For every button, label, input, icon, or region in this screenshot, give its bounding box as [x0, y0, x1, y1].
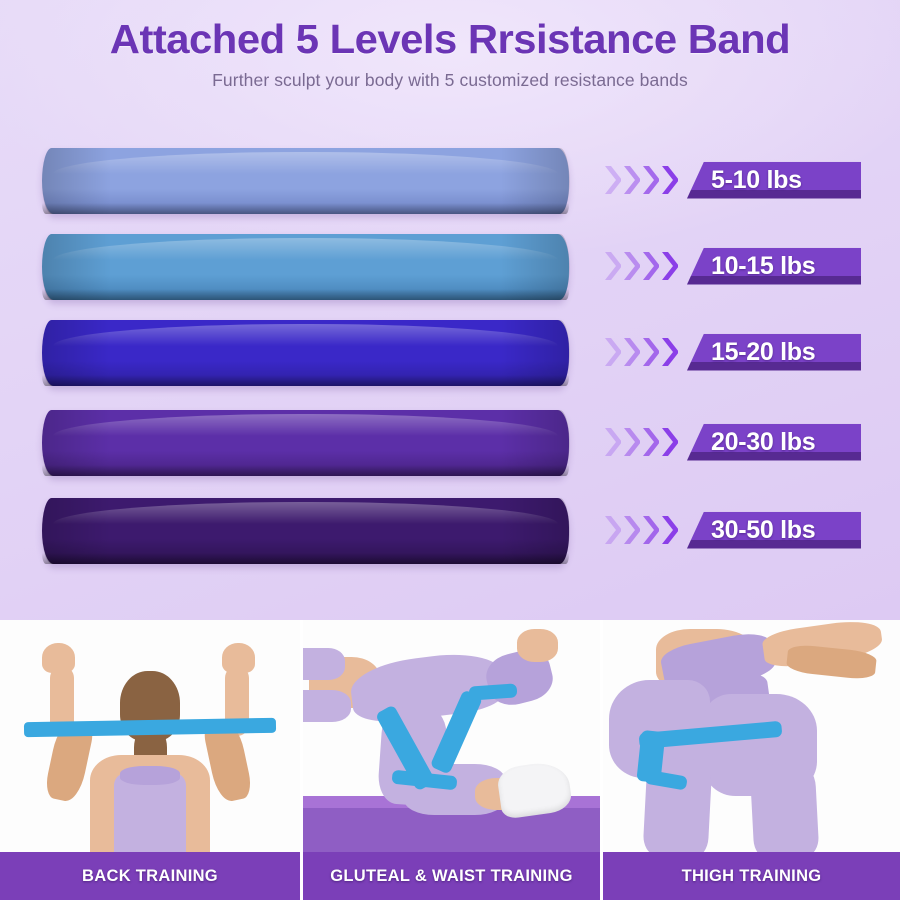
band-sheen: [53, 502, 559, 524]
resistance-band-level-1: [42, 148, 569, 214]
chevron-right-icon: [642, 165, 659, 195]
chevron-right-icon: [604, 337, 621, 367]
band-sheen: [53, 414, 559, 436]
band-fold: [42, 553, 569, 564]
caption-text: THIGH TRAINING: [682, 867, 822, 886]
weight-label: 15-20 lbs: [711, 338, 815, 367]
resistance-band-level-5: [42, 498, 569, 564]
band-end-right: [501, 234, 570, 300]
weight-label: 30-50 lbs: [711, 516, 815, 545]
weight-badge-level-1: 5-10 lbs: [604, 142, 861, 218]
band-fold: [42, 289, 569, 300]
chevron-group: [604, 515, 678, 545]
weight-plate: 20-30 lbs: [687, 424, 861, 461]
band-end-right: [501, 410, 570, 476]
chevron-right-icon: [661, 251, 678, 281]
chevron-right-icon: [642, 337, 659, 367]
header: Attached 5 Levels Rrsistance Band Furthe…: [0, 0, 900, 91]
weight-badge-level-3: 15-20 lbs: [604, 314, 861, 390]
weight-plate: 10-15 lbs: [687, 248, 861, 285]
weight-plate: 5-10 lbs: [687, 162, 861, 199]
chevron-right-icon: [623, 337, 640, 367]
weight-label: 5-10 lbs: [711, 166, 802, 195]
caption-bar: THIGH TRAINING: [603, 852, 900, 900]
band-sheen: [53, 324, 559, 346]
band-end-left: [42, 320, 111, 386]
band-end-left: [42, 410, 111, 476]
resistance-band-level-4: [42, 410, 569, 476]
chevron-right-icon: [642, 515, 659, 545]
chevron-right-icon: [661, 337, 678, 367]
caption-bar: BACK TRAINING: [0, 852, 300, 900]
infographic-panel: Attached 5 Levels Rrsistance Band Furthe…: [0, 0, 900, 620]
band-end-left: [42, 234, 111, 300]
resistance-band-level-2: [42, 234, 569, 300]
resistance-band-level-3: [42, 320, 569, 386]
weight-plate: 15-20 lbs: [687, 334, 861, 371]
band-end-left: [42, 148, 111, 214]
chevron-right-icon: [661, 515, 678, 545]
chevron-right-icon: [604, 515, 621, 545]
chevron-right-icon: [661, 427, 678, 457]
photo-cell-back-training: BACK TRAINING: [0, 620, 300, 900]
band-face: [42, 498, 569, 564]
band-sheen: [53, 238, 559, 260]
band-row: 20-30 lbs: [0, 404, 900, 480]
band-end-left: [42, 498, 111, 564]
weight-plate: 30-50 lbs: [687, 512, 861, 549]
band-sheen: [53, 152, 559, 174]
chevron-right-icon: [623, 427, 640, 457]
band-end-right: [501, 148, 570, 214]
band-row: 10-15 lbs: [0, 228, 900, 304]
photo-strip: BACK TRAINING: [0, 620, 900, 900]
photo-cell-thigh-training: THIGH TRAINING: [600, 620, 900, 900]
band-fold: [42, 375, 569, 386]
band-row: 15-20 lbs: [0, 314, 900, 390]
weight-badge-level-4: 20-30 lbs: [604, 404, 861, 480]
chevron-right-icon: [604, 165, 621, 195]
band-fold: [42, 203, 569, 214]
band-face: [42, 410, 569, 476]
photo-back-training: [0, 620, 300, 852]
caption-text: BACK TRAINING: [82, 867, 218, 886]
chevron-right-icon: [642, 251, 659, 281]
chevron-right-icon: [661, 165, 678, 195]
page-subtitle: Further sculpt your body with 5 customiz…: [0, 70, 900, 91]
chevron-group: [604, 427, 678, 457]
chevron-right-icon: [642, 427, 659, 457]
chevron-group: [604, 337, 678, 367]
caption-text: GLUTEAL & WAIST TRAINING: [330, 867, 572, 886]
caption-bar: GLUTEAL & WAIST TRAINING: [303, 852, 600, 900]
band-row: 5-10 lbs: [0, 142, 900, 218]
weight-label: 10-15 lbs: [711, 252, 815, 281]
band-face: [42, 320, 569, 386]
photo-cell-gluteal-waist-training: GLUTEAL & WAIST TRAINING: [300, 620, 600, 900]
chevron-right-icon: [623, 251, 640, 281]
photo-gluteal-waist-training: [303, 620, 600, 852]
chevron-right-icon: [604, 251, 621, 281]
band-row: 30-50 lbs: [0, 492, 900, 568]
chevron-right-icon: [604, 427, 621, 457]
weight-label: 20-30 lbs: [711, 428, 815, 457]
band-face: [42, 234, 569, 300]
chevron-group: [604, 251, 678, 281]
band-end-right: [501, 320, 570, 386]
chevron-group: [604, 165, 678, 195]
band-end-right: [501, 498, 570, 564]
chevron-right-icon: [623, 165, 640, 195]
weight-badge-level-2: 10-15 lbs: [604, 228, 861, 304]
weight-badge-level-5: 30-50 lbs: [604, 492, 861, 568]
chevron-right-icon: [623, 515, 640, 545]
band-face: [42, 148, 569, 214]
band-fold: [42, 465, 569, 476]
page-title: Attached 5 Levels Rrsistance Band: [0, 18, 900, 61]
photo-thigh-training: [603, 620, 900, 852]
